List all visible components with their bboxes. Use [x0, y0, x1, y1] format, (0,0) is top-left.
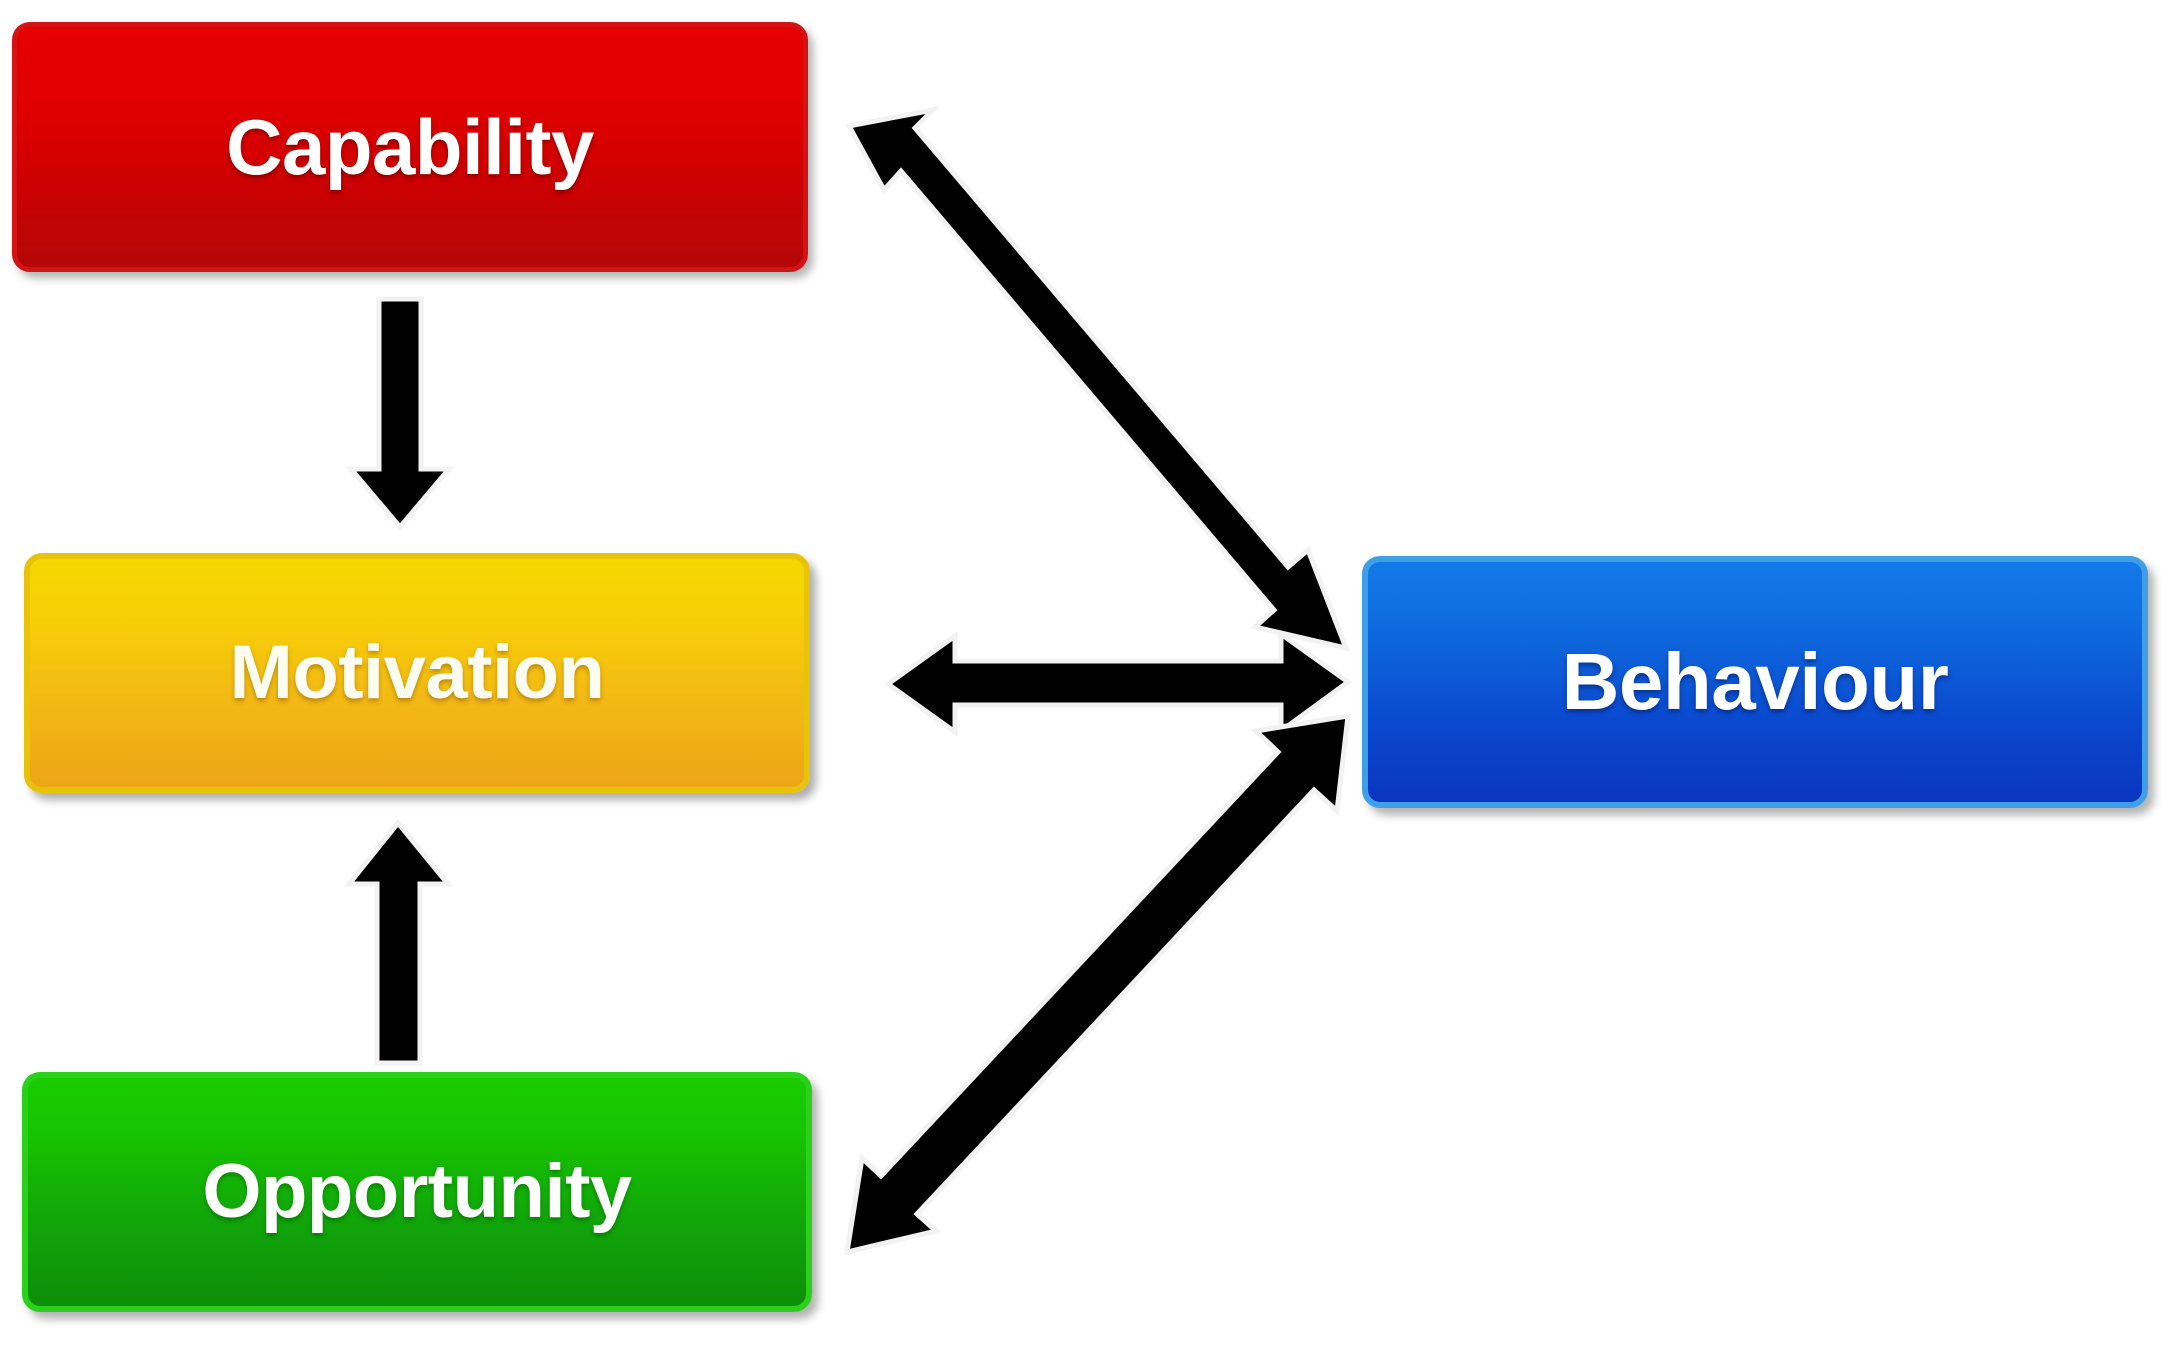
arrow-opportunity-to-motivation — [349, 823, 448, 1063]
node-capability-label: Capability — [226, 108, 594, 186]
node-opportunity-label: Opportunity — [202, 1154, 631, 1230]
arrow-capability-behaviour — [849, 110, 1346, 648]
arrow-opportunity-behaviour — [847, 716, 1348, 1252]
node-motivation-label: Motivation — [230, 635, 605, 711]
com-b-diagram: Capability Motivation Opportunity Behavi… — [0, 0, 2177, 1346]
arrow-capability-to-motivation — [351, 299, 449, 527]
arrow-motivation-behaviour — [888, 634, 1348, 732]
node-behaviour-label: Behaviour — [1562, 642, 1949, 722]
